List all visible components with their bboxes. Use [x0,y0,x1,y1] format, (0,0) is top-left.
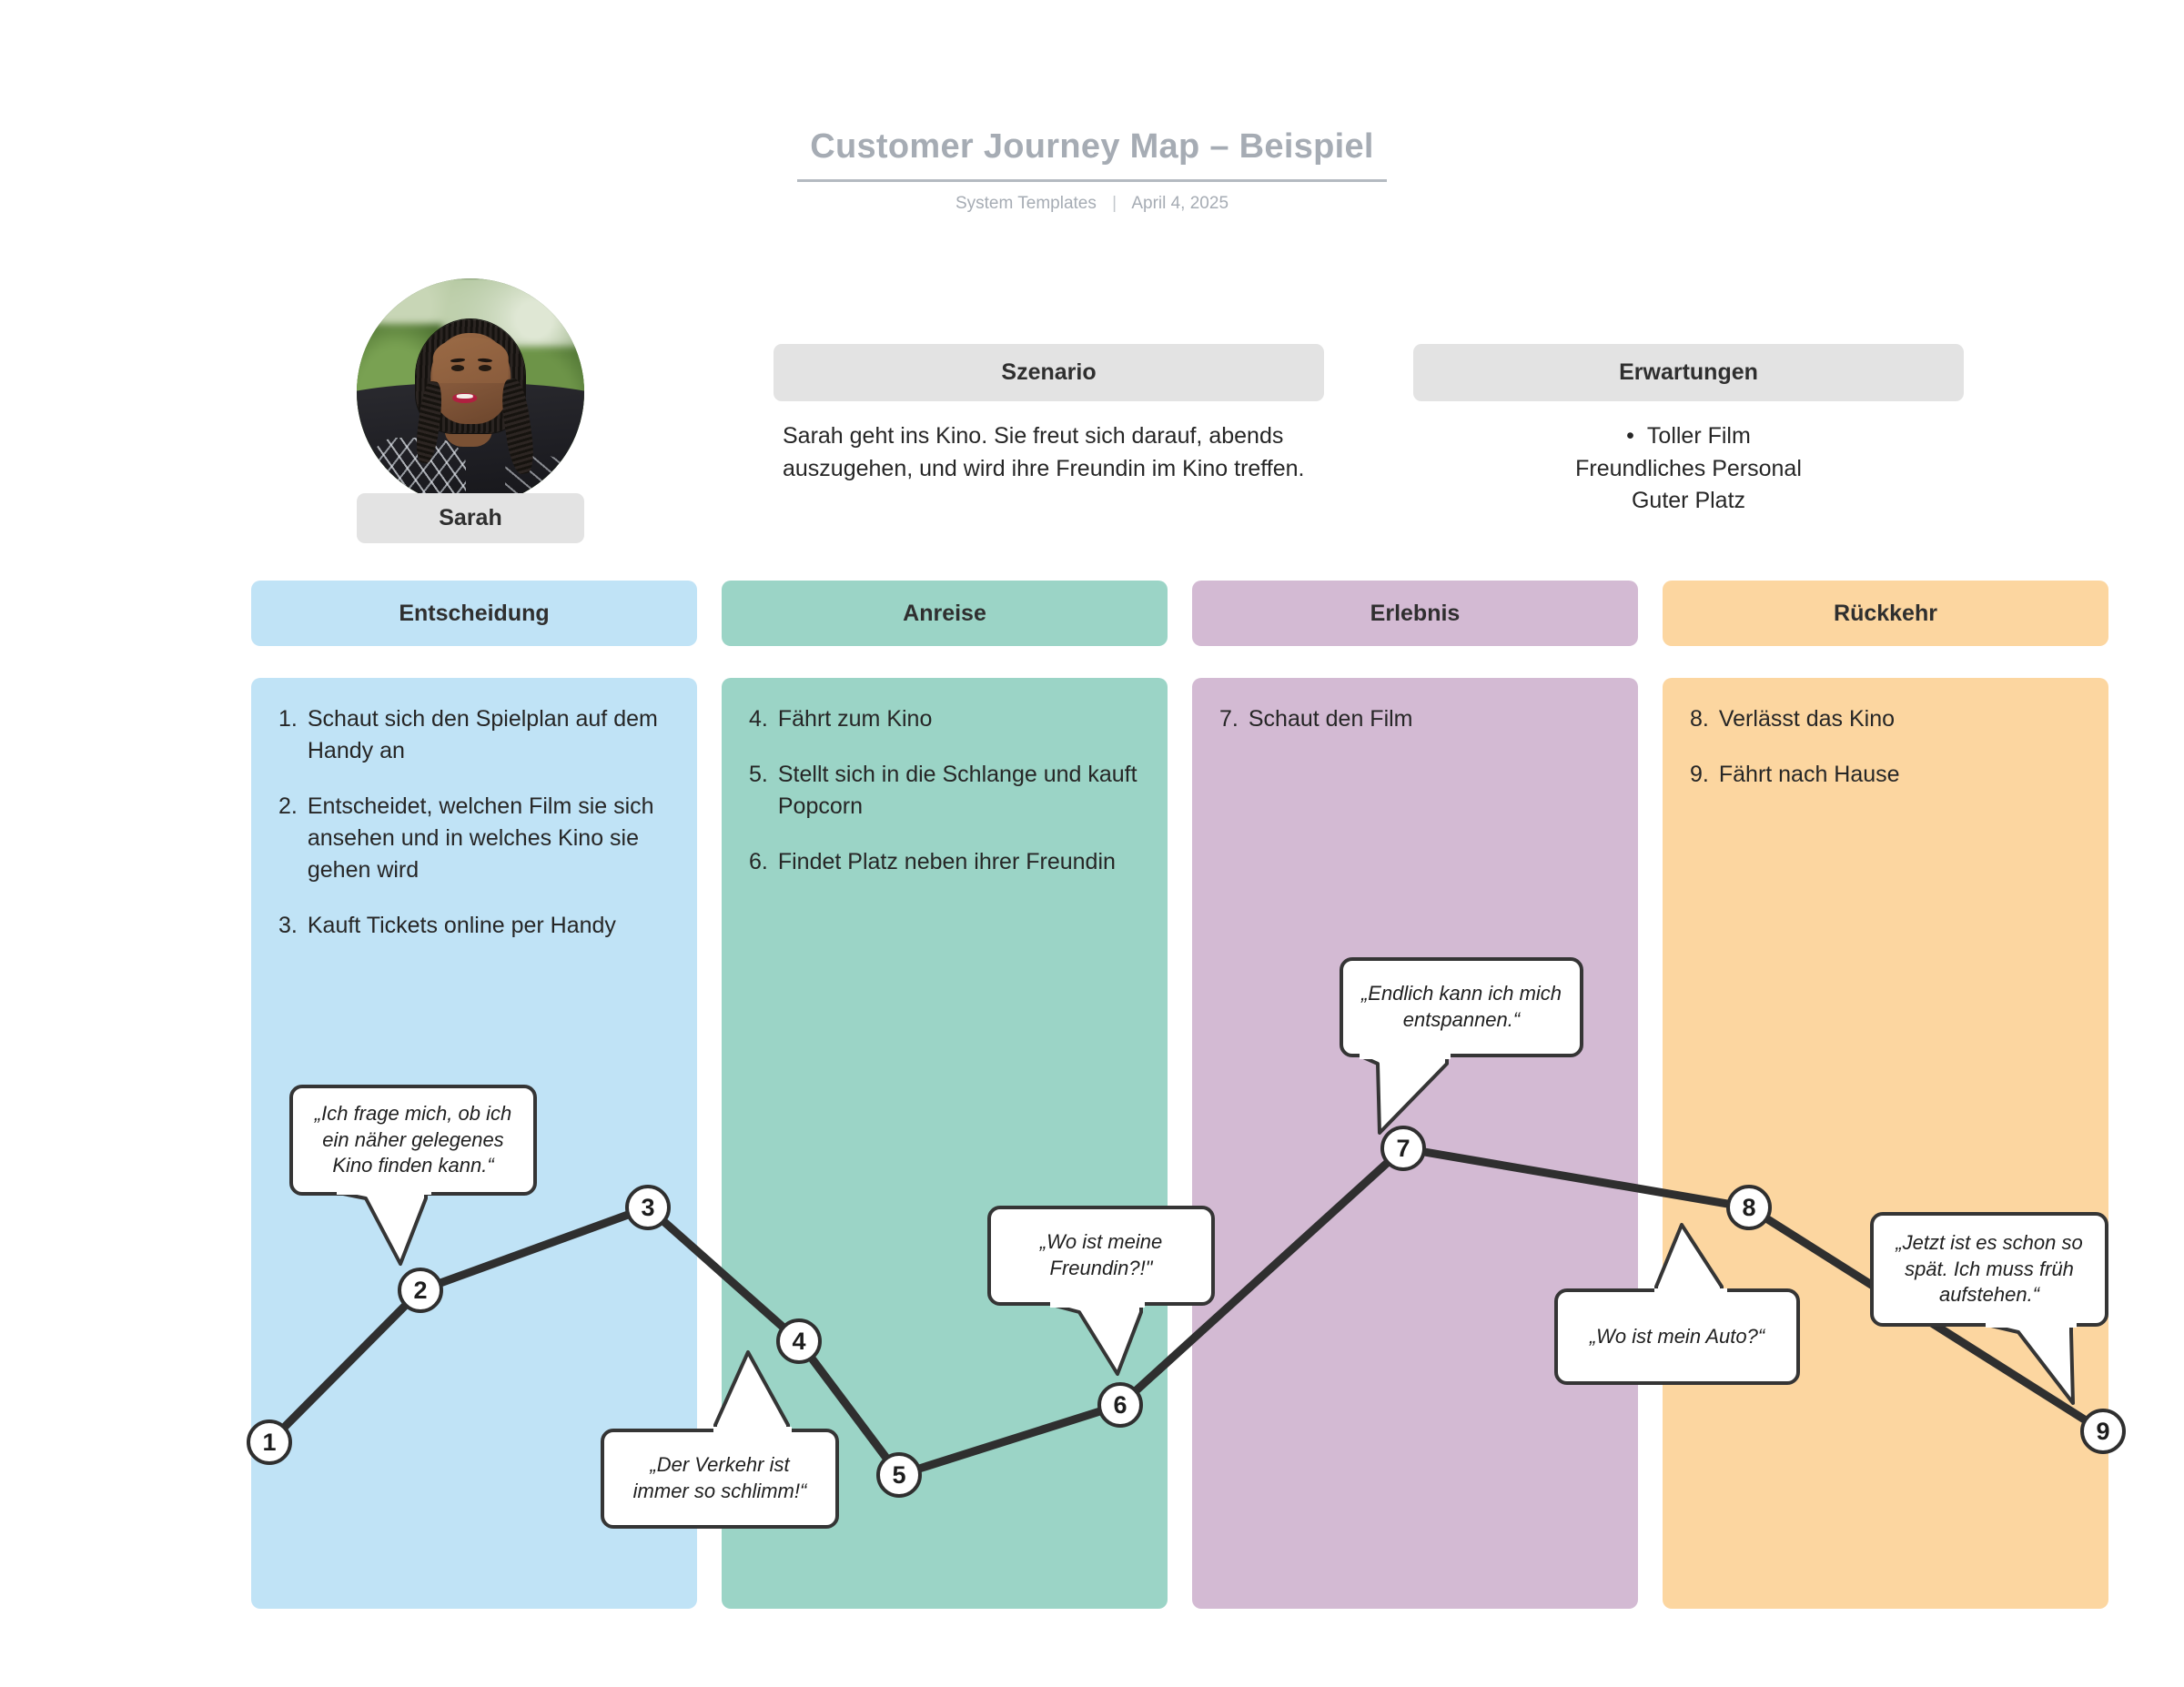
list-item: 1. Schaut sich den Spielplan auf dem Han… [278,703,675,767]
quote-tail-2 [335,1187,453,1269]
quote-tail-8 [1638,1219,1765,1301]
phase-header-entscheidung[interactable]: Entscheidung [251,581,697,646]
expectations-caption: Erwartungen [1413,344,1964,401]
scenario-text: Sarah geht ins Kino. Sie freut sich dara… [773,401,1324,485]
expectations-box: Erwartungen Toller Film Freundliches Per… [1413,344,1964,518]
avatar-eye-right [479,365,491,371]
step-number: 1. [278,703,298,767]
step-number: 4. [749,703,768,735]
journey-node-5[interactable]: 5 [876,1452,922,1498]
quote-tail-7 [1356,1051,1483,1142]
avatar-eye-left [451,365,464,371]
scenario-caption: Szenario [773,344,1324,401]
step-text: Stellt sich in die Schlange und kauft Po… [778,759,1146,823]
list-item: 9. Fährt nach Hause [1690,759,2087,791]
step-number: 3. [278,910,298,942]
expectations-item: Guter Platz [1632,488,1745,513]
phase-column-rueckkehr: 8. Verlässt das Kino 9. Fährt nach Hause [1663,678,2108,1609]
journey-node-3[interactable]: 3 [625,1185,671,1230]
list-item: 8. Verlässt das Kino [1690,703,2087,735]
step-number: 7. [1219,703,1239,735]
document-subheader: System Templates | April 4, 2025 [0,194,2184,214]
list-item: 5. Stellt sich in die Schlange und kauft… [749,759,1146,823]
quote-bubble-9: „Jetzt ist es schon so spät. Ich muss fr… [1870,1212,2108,1327]
phase-label: Entscheidung [399,601,549,627]
expectations-list: Toller Film Freundliches Personal Guter … [1413,401,1964,518]
list-item: 3. Kauft Tickets online per Handy [278,910,675,942]
step-text: Kauft Tickets online per Handy [308,910,675,942]
phase-header-erlebnis[interactable]: Erlebnis [1192,581,1638,646]
step-text: Findet Platz neben ihrer Freundin [778,846,1146,878]
step-list: 8. Verlässt das Kino 9. Fährt nach Hause [1690,703,2087,814]
avatar [357,278,584,506]
step-number: 6. [749,846,768,878]
list-item: 7. Schaut den Film [1219,703,1616,735]
phase-header-anreise[interactable]: Anreise [722,581,1168,646]
quote-tail-4 [701,1347,828,1438]
list-item: 6. Findet Platz neben ihrer Freundin [749,846,1146,878]
journey-node-6[interactable]: 6 [1097,1382,1143,1428]
journey-node-2[interactable]: 2 [398,1268,443,1313]
step-number: 9. [1690,759,1709,791]
quote-bubble-6: „Wo ist meine Freundin?!" [987,1206,1215,1306]
step-text: Schaut sich den Spielplan auf dem Handy … [308,703,675,767]
step-list: 1. Schaut sich den Spielplan auf dem Han… [278,703,675,965]
step-text: Schaut den Film [1249,703,1616,735]
quote-bubble-2: „Ich frage mich, ob ich ein näher gelege… [289,1085,537,1196]
step-list: 7. Schaut den Film [1219,703,1616,759]
journey-node-1[interactable]: 1 [247,1419,292,1465]
step-number: 5. [749,759,768,823]
subheader-separator: | [1112,194,1117,213]
scenario-box: Szenario Sarah geht ins Kino. Sie freut … [773,344,1324,485]
phase-label: Erlebnis [1370,601,1461,627]
persona-name: Sarah [357,493,584,543]
quote-tail-9 [1984,1319,2111,1410]
step-number: 8. [1690,703,1709,735]
expectations-item: Toller Film [1626,420,1751,453]
step-number: 2. [278,791,298,886]
document-header: Customer Journey Map – Beispiel System T… [0,127,2184,214]
avatar-forehead [433,338,509,383]
date-label: April 4, 2025 [1131,194,1228,213]
step-text: Verlässt das Kino [1719,703,2087,735]
phase-header-rueckkehr[interactable]: Rückkehr [1663,581,2108,646]
list-item: 2. Entscheidet, welchen Film sie sich an… [278,791,675,886]
page-title: Customer Journey Map – Beispiel [797,127,1387,182]
step-list: 4. Fährt zum Kino 5. Stellt sich in die … [749,703,1146,902]
list-item: 4. Fährt zum Kino [749,703,1146,735]
step-text: Entscheidet, welchen Film sie sich anseh… [308,791,675,886]
phase-label: Anreise [903,601,986,627]
journey-map-canvas: Customer Journey Map – Beispiel System T… [0,0,2184,1687]
step-text: Fährt nach Hause [1719,759,2087,791]
source-label: System Templates [955,194,1097,213]
journey-node-9[interactable]: 9 [2080,1409,2126,1454]
quote-bubble-8: „Wo ist mein Auto?“ [1554,1288,1800,1385]
phase-label: Rückkehr [1834,601,1937,627]
quote-bubble-4: „Der Verkehr ist immer so schlimm!“ [601,1429,839,1529]
avatar-teeth [457,394,474,399]
persona-card: Sarah [357,278,584,543]
step-text: Fährt zum Kino [778,703,1146,735]
quote-bubble-7: „Endlich kann ich mich entspannen.“ [1340,957,1583,1057]
quote-tail-6 [1046,1299,1174,1381]
expectations-item: Freundliches Personal [1575,456,1802,481]
